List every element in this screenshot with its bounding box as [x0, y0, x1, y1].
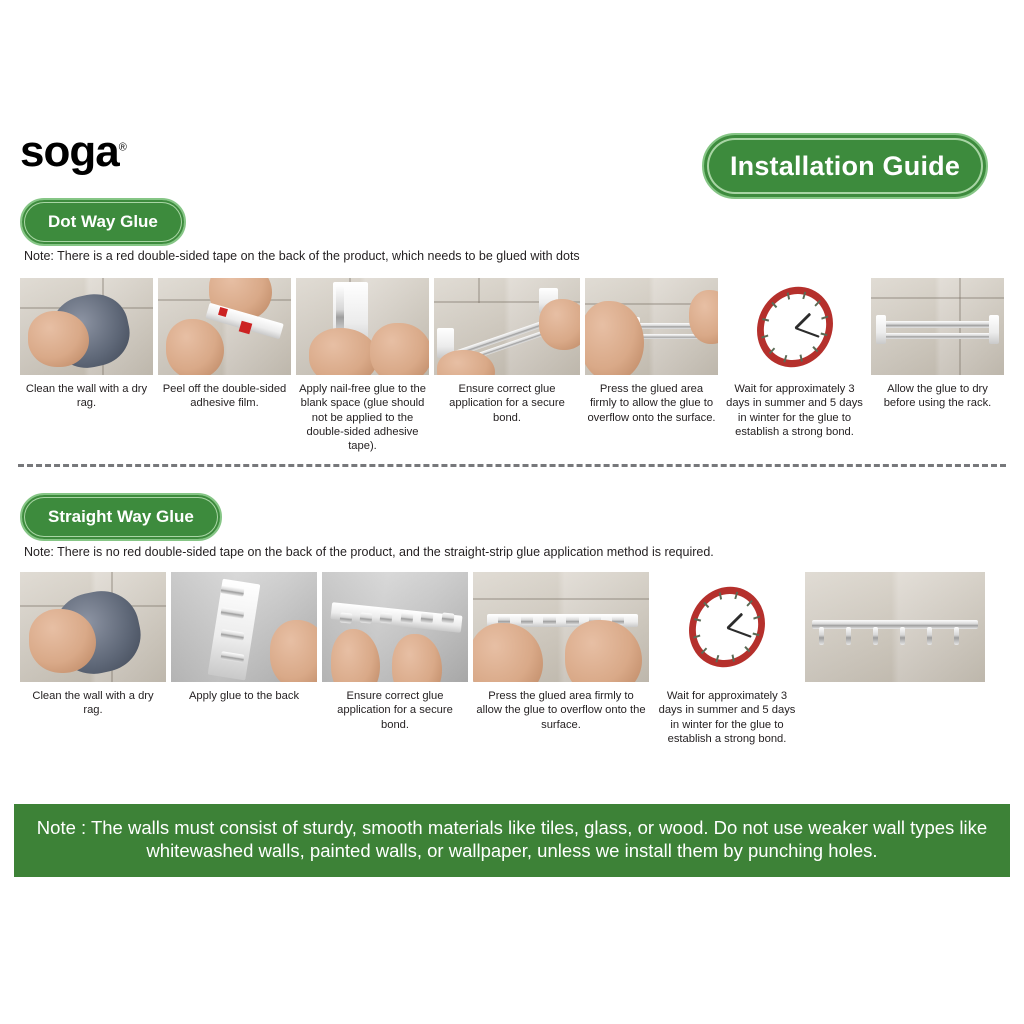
- step-photo-clock: [654, 572, 800, 682]
- step-cell: Apply glue to the back: [171, 572, 317, 746]
- step-photo-hold-strip: [322, 572, 468, 682]
- brand-logo: soga®: [20, 130, 127, 174]
- step-caption: Apply glue to the back: [171, 682, 317, 703]
- step-caption: Wait for approximately 3 days in summer …: [723, 375, 866, 439]
- step-caption: Allow the glue to dry before using the r…: [871, 375, 1004, 411]
- step-caption: Ensure correct glue application for a se…: [434, 375, 580, 425]
- step-cell: Press the glued area firmly to allow the…: [585, 278, 718, 454]
- bottom-warning-text: Note : The walls must consist of sturdy,…: [36, 816, 988, 863]
- step-photo-finished-rack: [871, 278, 1004, 375]
- step-cell: Wait for approximately 3 days in summer …: [723, 278, 866, 454]
- step-photo-press-strip: [473, 572, 649, 682]
- step-photo-clean-rag: [20, 572, 166, 682]
- step-cell: Ensure correct glue application for a se…: [322, 572, 468, 746]
- step-cell: Clean the wall with a dry rag.: [20, 572, 166, 746]
- step-cell: Clean the wall with a dry rag.: [20, 278, 153, 454]
- step-caption: [805, 682, 985, 689]
- section-note-dot-way-glue: Note: There is a red double-sided tape o…: [24, 249, 580, 263]
- section-divider: [18, 464, 1006, 467]
- step-caption: Press the glued area firmly to allow the…: [585, 375, 718, 425]
- step-photo-hook-rail: [805, 572, 985, 682]
- step-photo-clean-rag: [20, 278, 153, 375]
- step-cell: Press the glued area firmly to allow the…: [473, 572, 649, 746]
- step-caption: Apply nail-free glue to the blank space …: [296, 375, 429, 454]
- step-caption: Clean the wall with a dry rag.: [20, 375, 153, 411]
- step-cell: Wait for approximately 3 days in summer …: [654, 572, 800, 746]
- step-cell: Apply nail-free glue to the blank space …: [296, 278, 429, 454]
- section-badge-straight-way-glue: Straight Way Glue: [20, 493, 222, 541]
- step-cell: Ensure correct glue application for a se…: [434, 278, 580, 454]
- steps-row-dot-way-glue: Clean the wall with a dry rag.Peel off t…: [20, 278, 1004, 454]
- installation-guide-page: soga® Installation Guide Dot Way Glue No…: [0, 0, 1024, 1024]
- step-cell: Allow the glue to dry before using the r…: [871, 278, 1004, 454]
- section-note-straight-way-glue: Note: There is no red double-sided tape …: [24, 545, 714, 559]
- section-badge-label: Straight Way Glue: [48, 507, 194, 527]
- step-cell: [805, 572, 985, 746]
- step-photo-press-rack: [585, 278, 718, 375]
- brand-logo-text: soga: [20, 127, 119, 176]
- step-photo-peel-tape: [158, 278, 291, 375]
- bottom-warning-note: Note : The walls must consist of sturdy,…: [14, 804, 1010, 877]
- step-photo-apply-glue-bar: [296, 278, 429, 375]
- installation-guide-label: Installation Guide: [730, 151, 960, 182]
- step-caption: Wait for approximately 3 days in summer …: [654, 682, 800, 746]
- section-badge-label: Dot Way Glue: [48, 212, 158, 232]
- step-cell: Peel off the double-sided adhesive film.: [158, 278, 291, 454]
- step-photo-rack-diagonal: [434, 278, 580, 375]
- installation-guide-badge: Installation Guide: [702, 133, 988, 199]
- step-caption: Press the glued area firmly to allow the…: [473, 682, 649, 732]
- registered-trademark-icon: ®: [119, 141, 127, 153]
- step-caption: Clean the wall with a dry rag.: [20, 682, 166, 718]
- step-photo-glue-back-strip: [171, 572, 317, 682]
- step-caption: Peel off the double-sided adhesive film.: [158, 375, 291, 411]
- section-badge-dot-way-glue: Dot Way Glue: [20, 198, 186, 246]
- step-photo-clock: [723, 278, 866, 375]
- step-caption: Ensure correct glue application for a se…: [322, 682, 468, 732]
- steps-row-straight-way-glue: Clean the wall with a dry rag.Apply glue…: [20, 572, 1004, 746]
